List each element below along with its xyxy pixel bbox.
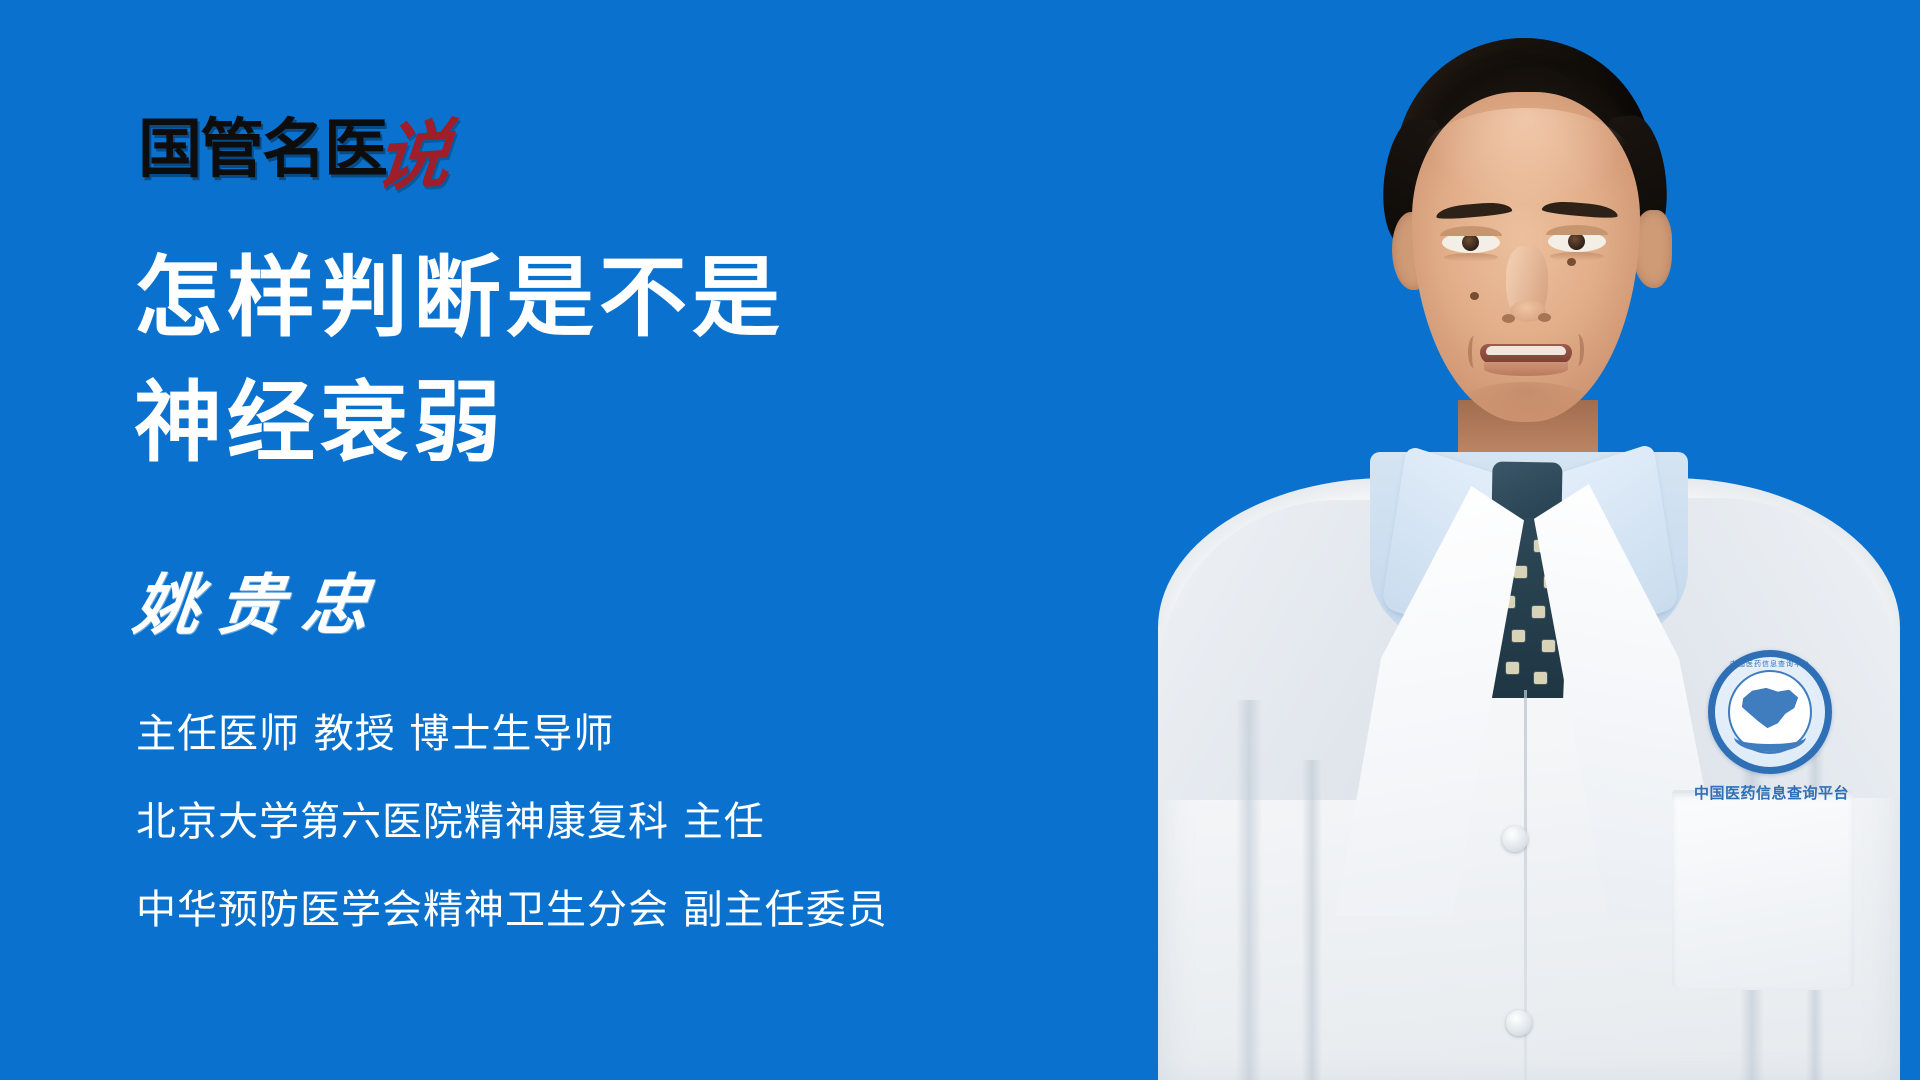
- under-eye-left: [1444, 253, 1498, 262]
- credential-line-2: 北京大学第六医院精神康复科 主任: [136, 802, 1076, 842]
- doctor-credentials: 主任医师 教授 博士生导师 北京大学第六医院精神康复科 主任 中华预防医学会精神…: [136, 714, 1076, 930]
- facial-mole: [1470, 292, 1479, 300]
- pupil-left: [1462, 234, 1479, 251]
- lab-coat-button: [1502, 826, 1528, 852]
- headline: 怎样判断是不是 神经衰弱: [134, 236, 1034, 486]
- badge-swoosh-icon: [1734, 722, 1806, 752]
- doctor-portrait: 中国医药信息查询平台 中国医药信息查询平台: [1040, 0, 1920, 1080]
- promo-banner: 国管名医 说 怎样判断是不是 神经衰弱 姚贵忠 主任医师 教授 博士生导师 北京…: [0, 0, 1920, 1080]
- credential-line-3: 中华预防医学会精神卫生分会 副主任委员: [136, 890, 1076, 930]
- text-panel: 国管名医 说 怎样判断是不是 神经衰弱 姚贵忠 主任医师 教授 博士生导师 北京…: [0, 0, 1100, 1080]
- mouth: [1480, 344, 1572, 364]
- badge-arc-top-text: 中国医药信息查询平台: [1708, 659, 1832, 669]
- program-logo: 国管名医 说: [138, 118, 450, 182]
- nostril-right: [1538, 313, 1551, 322]
- doctor-name: 姚贵忠: [131, 572, 390, 638]
- under-eye-right: [1550, 252, 1604, 261]
- platform-badge: 中国医药信息查询平台 中国医药信息查询平台: [1708, 650, 1832, 774]
- badge-caption-text: 中国医药信息查询平台: [1694, 782, 1846, 803]
- pupil-right: [1568, 233, 1585, 250]
- chin-shading: [1460, 382, 1592, 426]
- credential-line-1: 主任医师 教授 博士生导师: [136, 714, 1076, 754]
- program-logo-accent-text: 说: [373, 120, 454, 193]
- facial-mole: [1567, 258, 1576, 266]
- lab-coat-fold: [1236, 700, 1262, 1080]
- forehead-highlight: [1422, 108, 1630, 204]
- lower-lip: [1484, 362, 1568, 376]
- lab-coat-chest-pocket: [1672, 790, 1854, 990]
- nostril-left: [1502, 314, 1515, 323]
- lab-coat-button: [1506, 1010, 1532, 1036]
- smile-line-left: [1468, 336, 1480, 368]
- program-logo-main-text: 国管名医: [138, 118, 386, 182]
- headline-line-2: 神经衰弱: [134, 361, 1034, 486]
- smile-line-right: [1572, 334, 1584, 366]
- lab-coat-fold: [1302, 760, 1322, 1080]
- headline-line-1: 怎样判断是不是: [134, 236, 1034, 361]
- teeth: [1486, 346, 1566, 355]
